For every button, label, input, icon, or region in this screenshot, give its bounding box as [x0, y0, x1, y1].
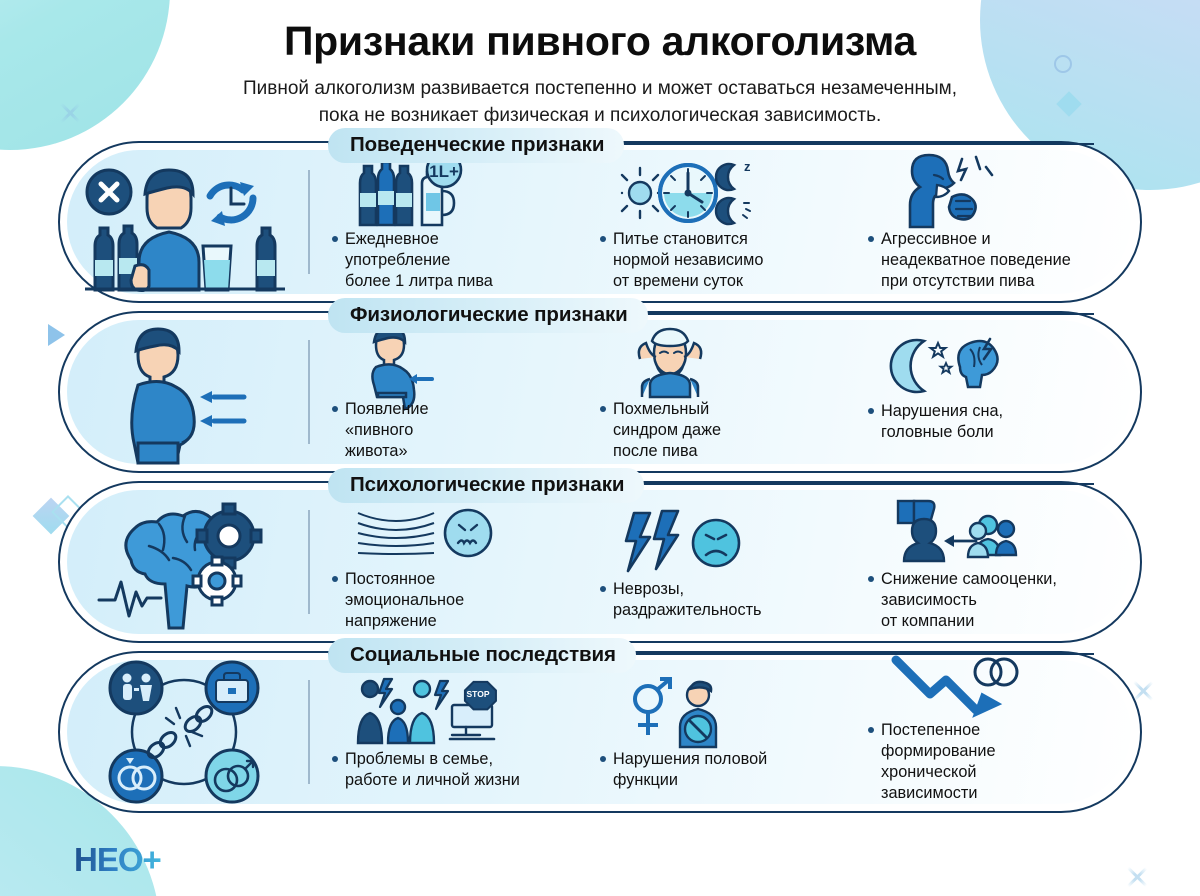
icon-downward-arrow-chain — [868, 660, 1015, 718]
illustration-man-big-belly — [60, 313, 308, 471]
bullet-dot — [868, 408, 874, 414]
list-item-text: Питье становится нормой независимо от вр… — [600, 229, 763, 292]
icon-moon-stars-brain — [868, 341, 1000, 399]
section-physiological: Физиологические признаки — [58, 311, 1142, 473]
list-item-label: Постепенное формирование хронической зав… — [881, 720, 996, 803]
section-title-social: Социальные последствия — [328, 638, 636, 673]
list-item-label: Неврозы, раздражительность — [613, 579, 762, 621]
svg-text:z: z — [744, 159, 751, 174]
node-family — [110, 662, 162, 714]
section-behavioral: Поведенческие признаки — [58, 141, 1142, 303]
list-item: Снижение самооценки, зависимость от комп… — [862, 483, 1130, 641]
list-item-text: Ежедневное употребление более 1 литра пи… — [332, 229, 493, 292]
broken-chain — [145, 704, 214, 761]
list-item-text: Появление «пивного живота» — [332, 399, 429, 462]
list-item-text: Нарушения половой функции — [600, 749, 767, 791]
section-items-psychological: Постоянное эмоциональное напряжение — [310, 483, 1140, 641]
icon-thumbs-down-person-group — [868, 493, 1020, 567]
icon-badge-stop: STOP — [467, 689, 490, 699]
bullet-dot — [332, 576, 338, 582]
bullet-dot — [868, 236, 874, 242]
section-title-behavioral: Поведенческие признаки — [328, 128, 624, 163]
bullet-dot — [332, 756, 338, 762]
bullet-dot — [332, 236, 338, 242]
page-title: Признаки пивного алкоголизма — [0, 18, 1200, 65]
list-item-text: Нарушения сна, головные боли — [868, 401, 1003, 443]
section-items-social: STOP Проблемы в семье, работе и личной ж… — [310, 653, 1140, 811]
list-item-label: Проблемы в семье, работе и личной жизни — [345, 749, 520, 791]
bullet-dot — [332, 406, 338, 412]
section-title-psychological: Психологические признаки — [328, 468, 644, 503]
icon-angry-man-fist — [868, 153, 1000, 227]
list-item: Постепенное формирование хронической зав… — [862, 653, 1130, 811]
icon-gender-person-prohibited — [600, 673, 732, 747]
list-item-label: Ежедневное употребление более 1 литра пи… — [345, 229, 493, 292]
illustration-man-with-beer-bottles — [60, 143, 308, 301]
list-item-label: Агрессивное и неадекватное поведение при… — [881, 229, 1071, 292]
list-item: Постоянное эмоциональное напряжение — [326, 483, 594, 641]
list-item-label: Постоянное эмоциональное напряжение — [345, 569, 464, 632]
decor-sparkle-bottom-corner — [1126, 866, 1148, 888]
list-item-label: Похмельный синдром даже после пива — [613, 399, 721, 462]
node-gender — [206, 750, 258, 802]
icon-hungover-man-bandage — [600, 323, 718, 397]
list-item: Неврозы, раздражительность — [594, 483, 862, 641]
icon-sun-clock-moon: z — [600, 153, 747, 227]
list-item: z Питье становится нормой независимо от … — [594, 143, 862, 301]
list-item-text: Агрессивное и неадекватное поведение при… — [868, 229, 1071, 292]
bullet-dot — [600, 586, 606, 592]
subtitle-line-1: Пивной алкоголизм развивается постепенно… — [243, 78, 957, 99]
bullet-dot — [600, 236, 606, 242]
list-item-text: Постоянное эмоциональное напряжение — [332, 569, 464, 632]
section-items-physiological: Появление «пивного живота» — [310, 313, 1140, 471]
list-item: Агрессивное и неадекватное поведение при… — [862, 143, 1130, 301]
section-psychological: Психологические признаки — [58, 481, 1142, 643]
list-item-text: Постепенное формирование хронической зав… — [868, 720, 996, 803]
list-item-text: Снижение самооценки, зависимость от комп… — [868, 569, 1057, 632]
list-item: 1L+ Ежедневное употребление более 1 литр… — [326, 143, 594, 301]
page-header: Признаки пивного алкоголизма Пивной алко… — [0, 0, 1200, 130]
list-item-label: Питье становится нормой независимо от вр… — [613, 229, 763, 292]
bullet-dot — [600, 406, 606, 412]
subtitle-line-2: пока не возникает физическая и психологи… — [319, 105, 882, 126]
page-subtitle: Пивной алкоголизм развивается постепенно… — [0, 76, 1200, 130]
list-item: STOP Проблемы в семье, работе и личной ж… — [326, 653, 594, 811]
list-item-label: Нарушения половой функции — [613, 749, 767, 791]
illustration-broken-chain-circle — [60, 653, 308, 811]
illustration-brain-with-gears — [60, 483, 308, 641]
brand-logo: НЕО+ — [74, 841, 161, 879]
list-item-label: Нарушения сна, головные боли — [881, 401, 1003, 443]
list-item-label: Снижение самооценки, зависимость от комп… — [881, 569, 1057, 632]
list-item-label: Появление «пивного живота» — [345, 399, 429, 462]
section-items-behavioral: 1L+ Ежедневное употребление более 1 литр… — [310, 143, 1140, 301]
list-item-text: Неврозы, раздражительность — [600, 579, 762, 621]
icon-lightning-angry-face — [600, 503, 742, 577]
list-item: Нарушения половой функции — [594, 653, 862, 811]
icon-man-profile-beer-belly — [332, 323, 432, 397]
icon-family-conflict-work-stop: STOP — [332, 673, 504, 747]
list-item: Похмельный синдром даже после пива — [594, 313, 862, 471]
node-work — [206, 662, 258, 714]
list-item-text: Похмельный синдром даже после пива — [600, 399, 721, 462]
icon-tense-lines-worried-face — [332, 493, 494, 567]
section-title-physiological: Физиологические признаки — [328, 298, 648, 333]
section-social: Социальные последствия — [58, 651, 1142, 813]
list-item: Нарушения сна, головные боли — [862, 313, 1130, 471]
list-item: Появление «пивного живота» — [326, 313, 594, 471]
icon-three-bottles-and-jug: 1L+ — [332, 153, 469, 227]
list-item-text: Проблемы в семье, работе и личной жизни — [332, 749, 520, 791]
bullet-dot — [868, 576, 874, 582]
bullet-dot — [600, 756, 606, 762]
bullet-dot — [868, 727, 874, 733]
sections-container: Поведенческие признаки — [0, 141, 1200, 813]
icon-badge-liters: 1L+ — [429, 162, 459, 181]
